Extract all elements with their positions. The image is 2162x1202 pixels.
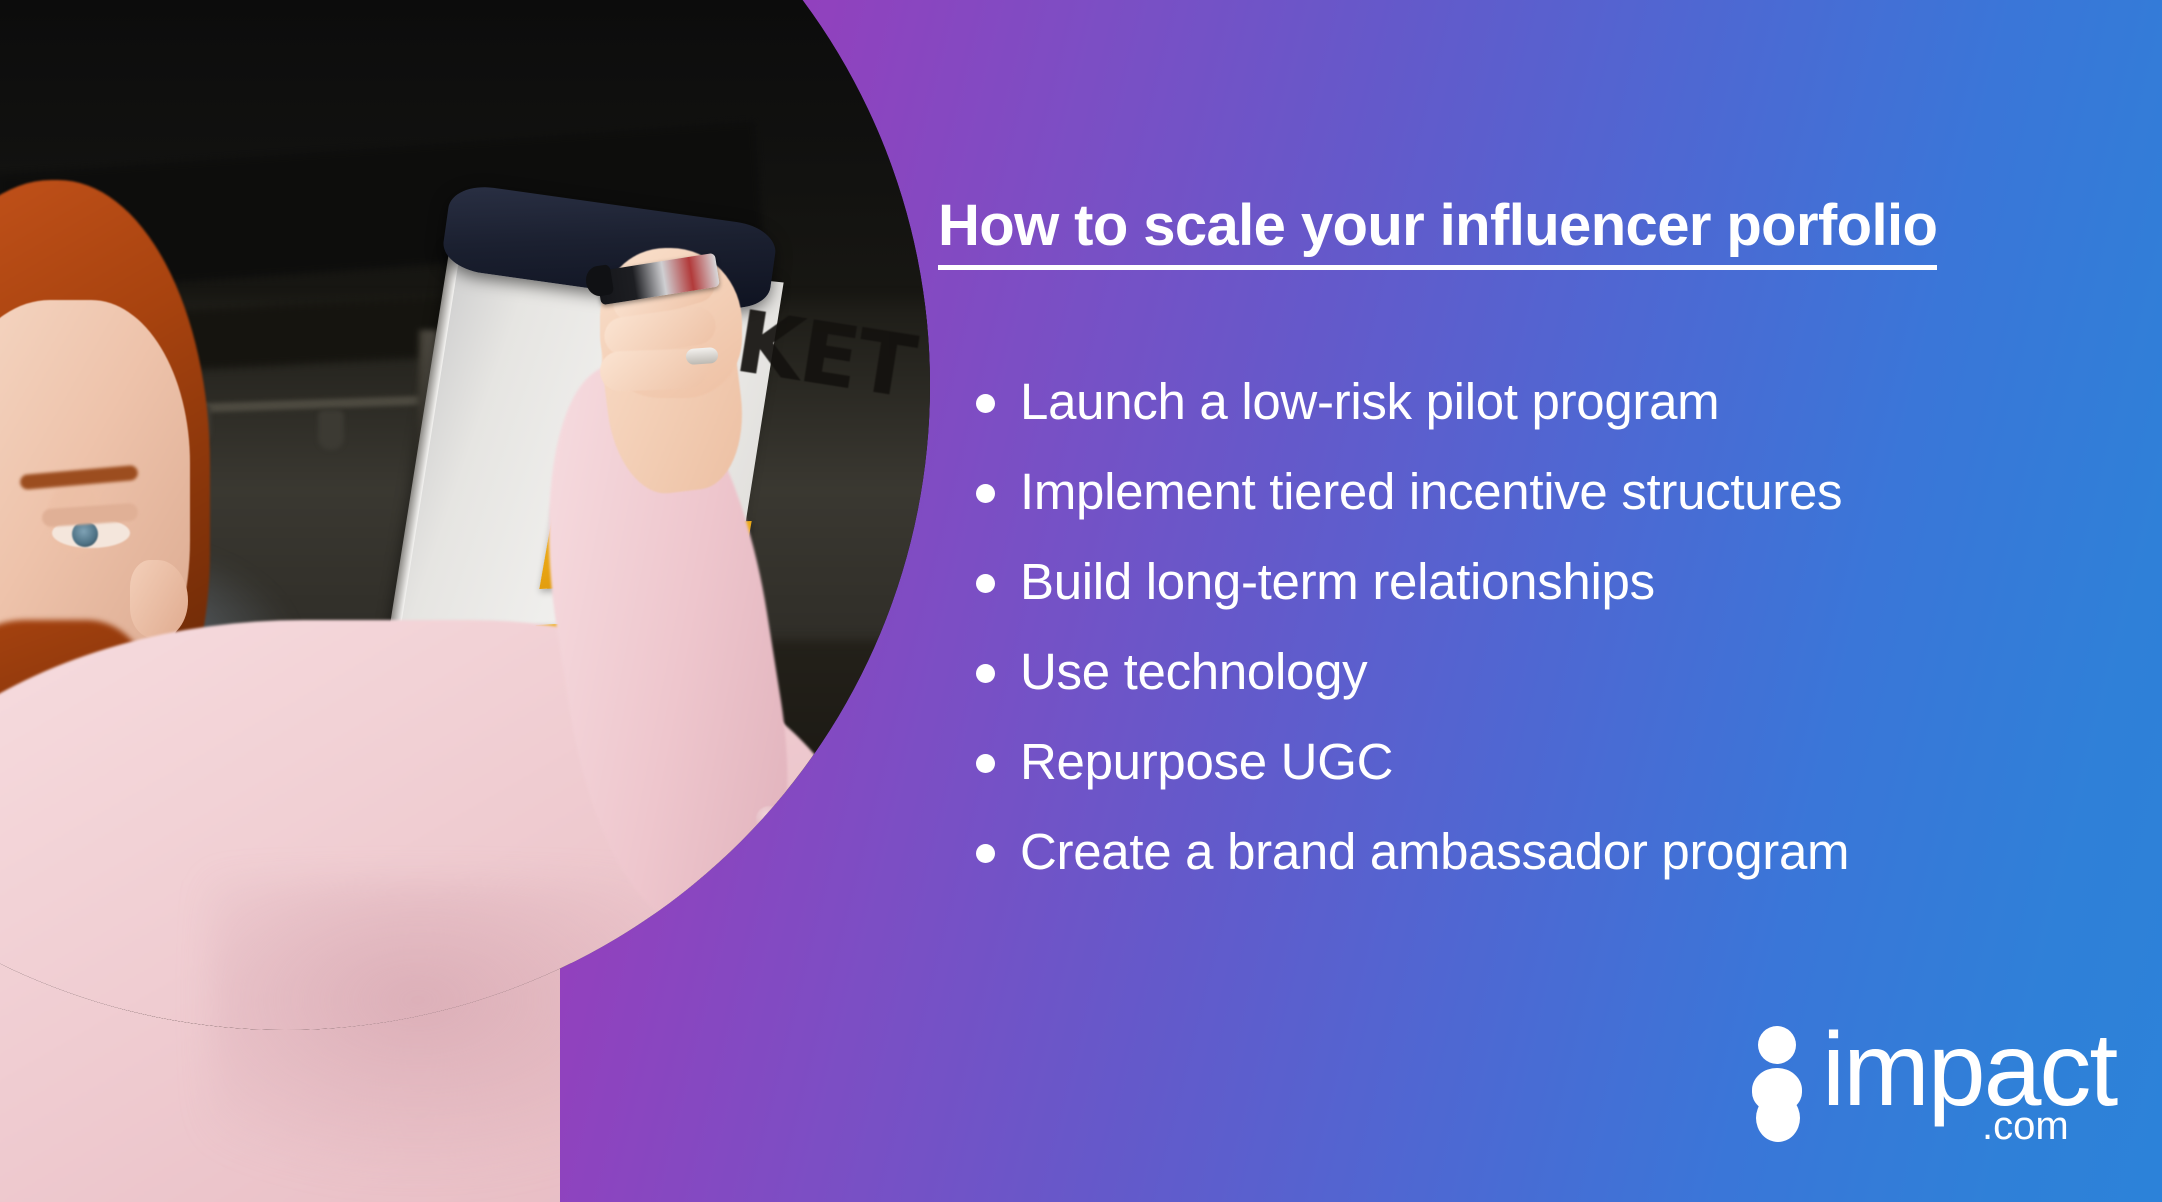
ring: [685, 347, 718, 365]
list-item: Implement tiered incentive structures: [976, 462, 1849, 528]
list-item: Use technology: [976, 642, 1849, 708]
list-item-label: Implement tiered incentive structures: [1020, 462, 1842, 522]
bullet-dot-icon: [976, 664, 995, 683]
list-item: Create a brand ambassador program: [976, 822, 1849, 888]
sleeve-button: [756, 806, 782, 832]
logo-dot-top: [1758, 1026, 1796, 1064]
bullet-list: Launch a low-risk pilot program Implemen…: [976, 372, 1849, 912]
photo-scene: RKET: [0, 0, 930, 1030]
list-item: Launch a low-risk pilot program: [976, 372, 1849, 438]
logo-wordmark: impact: [1822, 1018, 2116, 1122]
list-item-label: Build long-term relationships: [1020, 552, 1655, 612]
list-item-label: Launch a low-risk pilot program: [1020, 372, 1719, 432]
nose: [130, 560, 188, 638]
marketing-slide: RKET: [0, 0, 2162, 1202]
bullet-dot-icon: [976, 394, 995, 413]
list-item-label: Repurpose UGC: [1020, 732, 1393, 792]
bullet-dot-icon: [976, 574, 995, 593]
logo-tld: .com: [1982, 1106, 2069, 1146]
bullet-dot-icon: [976, 484, 995, 503]
list-item: Build long-term relationships: [976, 552, 1849, 618]
list-item-label: Create a brand ambassador program: [1020, 822, 1849, 882]
spotlight: [318, 410, 344, 450]
logo-dot-bottom: [1756, 1094, 1800, 1142]
impact-logo: impact .com: [1750, 1018, 2110, 1158]
impact-logo-mark-icon: [1750, 1026, 1804, 1142]
circular-photo-mask: RKET: [0, 0, 930, 1030]
bullet-dot-icon: [976, 754, 995, 773]
bullet-dot-icon: [976, 844, 995, 863]
list-item: Repurpose UGC: [976, 732, 1849, 798]
list-item-label: Use technology: [1020, 642, 1367, 702]
slide-title: How to scale your influencer porfolio: [938, 197, 1937, 270]
